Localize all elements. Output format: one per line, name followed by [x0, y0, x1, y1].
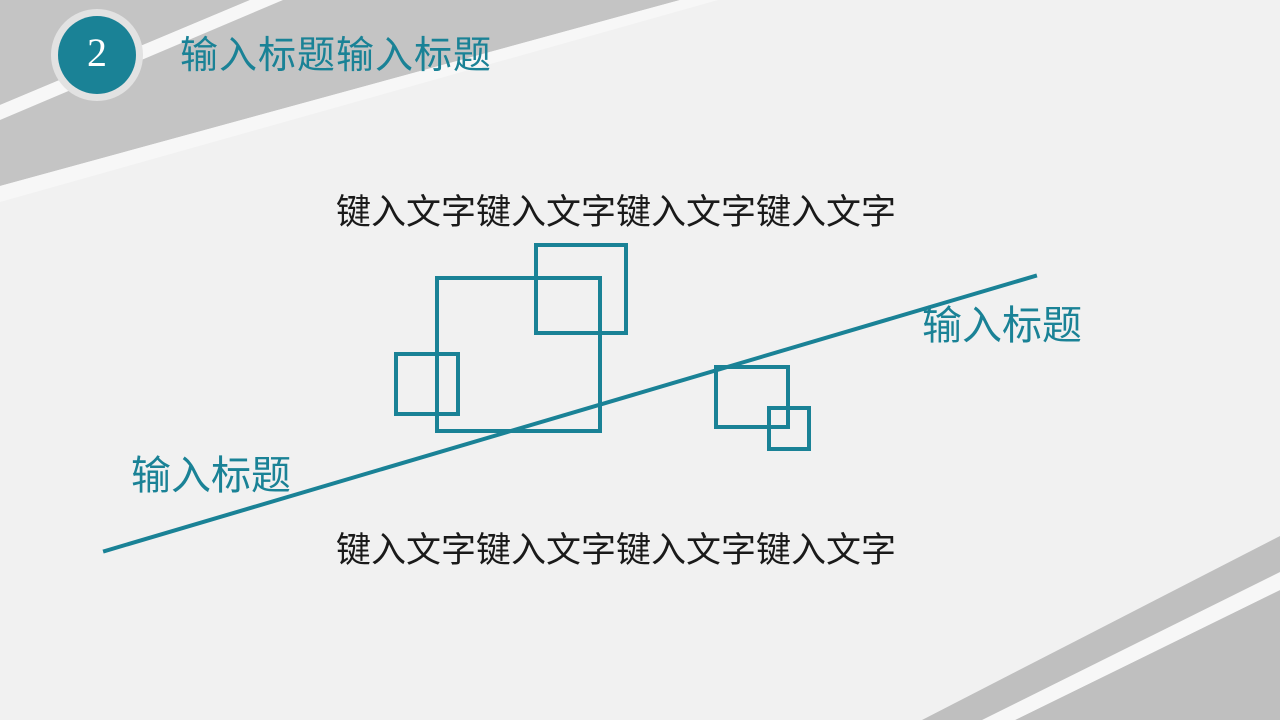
callout-label-right: 输入标题	[922, 293, 1082, 351]
square-medium	[536, 245, 626, 333]
body-text-bottom: 键入文字键入文字键入文字键入文字	[336, 522, 896, 573]
squares-group	[396, 245, 809, 449]
square-small-left	[396, 354, 458, 414]
diagonal-divider-line	[105, 276, 1035, 551]
callout-label-left: 输入标题	[131, 443, 291, 501]
square-large	[437, 278, 600, 431]
slide-canvas: 2 输入标题输入标题 键入文字键入文字键入文字键入文字 键入文字键入文字键入文字…	[0, 0, 1280, 720]
diagram-shapes	[0, 0, 1280, 720]
square-medium-right	[716, 367, 788, 427]
body-text-top: 键入文字键入文字键入文字键入文字	[336, 184, 896, 235]
